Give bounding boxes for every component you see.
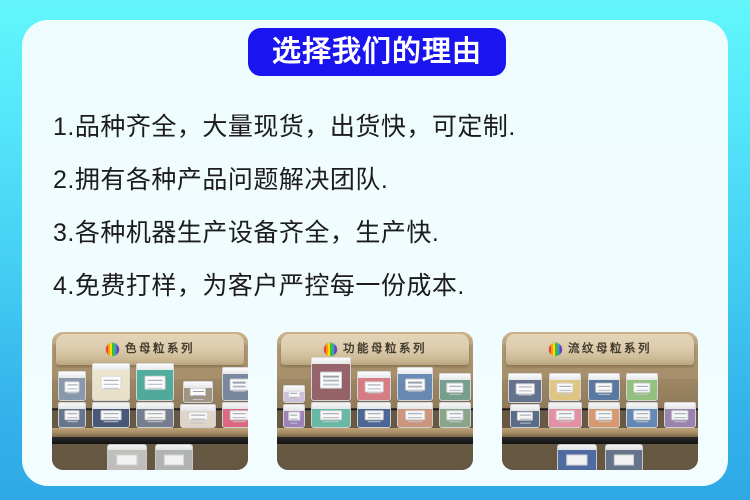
rainbow-stripes-logo-icon xyxy=(105,342,120,357)
jar-lid xyxy=(107,445,147,450)
reason-text: 1.品种齐全，大量现货，出货快，可定制. xyxy=(53,115,516,140)
jar-stack xyxy=(355,370,393,428)
pellet-jar xyxy=(664,402,696,428)
pellet-jar xyxy=(311,402,351,428)
jar-label xyxy=(188,412,208,421)
shelf-sign-label: 功能母粒系列 xyxy=(343,344,427,356)
jar-label xyxy=(164,454,184,465)
jar-lid xyxy=(397,403,433,409)
jar-label xyxy=(516,383,535,394)
jar-label xyxy=(365,411,384,421)
jar-label xyxy=(566,454,587,465)
jar-lid xyxy=(357,403,391,409)
jar-stack xyxy=(309,356,353,428)
jar-lid xyxy=(136,403,174,409)
jar-lid xyxy=(180,405,216,411)
jar-lid xyxy=(439,374,471,380)
pellet-jar xyxy=(508,373,542,403)
jar-label xyxy=(320,411,342,421)
jar-lid xyxy=(397,368,433,374)
jar-stack xyxy=(134,362,176,428)
reason-text: 2.拥有各种产品问题解决团队. xyxy=(53,168,388,193)
shelf-sign-label: 流纹母粒系列 xyxy=(568,344,652,356)
jar-lid xyxy=(311,358,351,364)
jar-lid xyxy=(508,374,542,380)
jar-lid xyxy=(283,405,305,411)
promo-banner: 选择我们的理由 1.品种齐全，大量现货，出货快，可定制. 2.拥有各种产品问题解… xyxy=(0,0,750,500)
jar-lid xyxy=(183,382,213,388)
jar-lid xyxy=(548,403,582,409)
jar-row-bottom-3 xyxy=(502,444,698,470)
pellet-jar xyxy=(222,402,248,428)
reason-text: 4.免费打样，为客户严控每一份成本. xyxy=(53,274,465,299)
jar-stack xyxy=(662,401,698,428)
jar-label xyxy=(320,371,342,388)
jar-lid xyxy=(549,374,581,380)
pellet-jar xyxy=(222,367,248,401)
jar-stack xyxy=(56,370,88,428)
pellet-jar xyxy=(183,381,213,403)
jar-stack xyxy=(586,372,622,428)
jar-label xyxy=(101,411,122,421)
jar-lid xyxy=(626,374,658,380)
jar-label xyxy=(633,411,650,421)
pellet-jar xyxy=(283,385,305,403)
pellet-jar xyxy=(397,402,433,428)
jar-row-bottom-2 xyxy=(277,444,473,470)
pellet-jar-partial xyxy=(155,444,193,470)
pellet-jar xyxy=(397,367,433,401)
jar-label xyxy=(230,378,248,391)
jar-stack xyxy=(281,384,307,428)
jar-label xyxy=(116,454,137,465)
pellet-jar xyxy=(58,371,86,401)
pellet-jar xyxy=(58,402,86,428)
pellet-jar xyxy=(548,402,582,428)
pellet-jar xyxy=(549,373,581,401)
jar-lid xyxy=(58,372,86,378)
jar-label xyxy=(595,411,612,421)
jar-lid xyxy=(510,405,540,411)
reason-item-2: 2.拥有各种产品问题解决团队. xyxy=(53,154,693,207)
rainbow-stripes-logo-icon xyxy=(323,342,338,357)
shelf-board xyxy=(277,428,473,437)
pellet-jar xyxy=(136,363,174,401)
product-photo-3: 流纹母粒系列 xyxy=(502,332,698,470)
jar-label xyxy=(230,411,248,421)
reason-item-3: 3.各种机器生产设备齐全，生产快. xyxy=(53,207,693,260)
jar-label xyxy=(64,411,79,421)
product-photo-1: 色母粒系列 xyxy=(52,332,248,470)
pellet-jar-partial xyxy=(107,444,147,470)
jar-label xyxy=(288,412,300,421)
jar-label xyxy=(365,381,384,392)
reason-text: 3.各种机器生产设备齐全，生产快. xyxy=(53,221,439,246)
jar-lid xyxy=(58,403,86,409)
pellet-jar xyxy=(439,373,471,401)
shelf-sign-label: 色母粒系列 xyxy=(125,344,195,356)
reason-item-1: 1.品种齐全，大量现货，出货快，可定制. xyxy=(53,101,693,154)
jar-label xyxy=(446,411,463,421)
jar-lid xyxy=(605,445,643,450)
jar-stack xyxy=(624,372,660,428)
jar-label xyxy=(517,412,533,421)
jar-label xyxy=(145,376,166,390)
reasons-list: 1.品种齐全，大量现货，出货快，可定制. 2.拥有各种产品问题解决团队. 3.各… xyxy=(53,101,693,313)
jar-lid xyxy=(222,403,248,409)
pellet-jar xyxy=(439,402,471,428)
jar-label xyxy=(101,376,122,390)
pellet-jar xyxy=(92,363,130,401)
pellet-jar xyxy=(588,373,620,401)
jar-lid xyxy=(557,445,597,450)
shelf-signboard-1: 色母粒系列 xyxy=(56,334,244,365)
jar-stack xyxy=(506,372,544,428)
jar-stack xyxy=(220,366,248,428)
reason-item-4: 4.免费打样，为客户严控每一份成本. xyxy=(53,260,693,313)
jar-label xyxy=(446,382,463,392)
rainbow-stripes-logo-icon xyxy=(548,342,563,357)
product-photo-strip: 色母粒系列 功能母粒系列 xyxy=(52,332,698,470)
title-banner: 选择我们的理由 xyxy=(248,28,506,76)
jar-lid xyxy=(626,403,658,409)
jar-label xyxy=(405,378,425,391)
jar-label xyxy=(556,411,575,421)
pellet-jar xyxy=(136,402,174,428)
jar-lid xyxy=(664,403,696,409)
jar-label xyxy=(556,382,573,392)
pellet-jar xyxy=(510,404,540,428)
pellet-jar xyxy=(311,357,351,401)
jar-label xyxy=(288,391,300,397)
pellet-jar xyxy=(357,402,391,428)
jar-lid xyxy=(222,368,248,374)
pellet-jar xyxy=(180,404,216,428)
shelf-edge xyxy=(277,437,473,444)
pellet-jar-partial xyxy=(605,444,643,470)
jar-label xyxy=(64,381,79,392)
jar-lid xyxy=(136,364,174,370)
jar-row-upper-2 xyxy=(277,368,473,428)
jar-lid xyxy=(357,372,391,378)
jar-label xyxy=(633,382,650,392)
shelf-edge xyxy=(502,437,698,444)
jar-lid xyxy=(311,403,351,409)
jar-label xyxy=(614,454,634,465)
pellet-jar xyxy=(92,402,130,428)
jar-stack xyxy=(546,372,584,428)
jar-lid xyxy=(155,445,193,450)
jar-label xyxy=(671,411,688,421)
jar-lid xyxy=(92,403,130,409)
jar-stack xyxy=(178,380,218,428)
jar-label xyxy=(145,411,166,421)
shelf-signboard-3: 流纹母粒系列 xyxy=(506,334,694,365)
jar-row-upper-3 xyxy=(502,368,698,428)
pellet-jar-partial xyxy=(557,444,597,470)
pellet-jar xyxy=(357,371,391,401)
jar-label xyxy=(595,382,612,392)
shelf-board xyxy=(502,428,698,437)
shelf-board xyxy=(52,428,248,437)
jar-stack xyxy=(90,362,132,428)
pellet-jar xyxy=(626,373,658,401)
jar-lid xyxy=(92,364,130,370)
jar-row-bottom-1 xyxy=(52,444,248,470)
jar-row-upper-1 xyxy=(52,368,248,428)
jar-label xyxy=(190,388,206,396)
jar-lid xyxy=(588,403,620,409)
jar-lid xyxy=(439,403,471,409)
jar-stack xyxy=(395,366,435,428)
pellet-jar xyxy=(626,402,658,428)
pellet-jar xyxy=(283,404,305,428)
jar-stack xyxy=(437,372,473,428)
pellet-jar xyxy=(588,402,620,428)
content-panel: 选择我们的理由 1.品种齐全，大量现货，出货快，可定制. 2.拥有各种产品问题解… xyxy=(22,20,728,486)
jar-label xyxy=(405,411,425,421)
page-title: 选择我们的理由 xyxy=(272,38,482,67)
jar-lid xyxy=(588,374,620,380)
shelf-edge xyxy=(52,437,248,444)
product-photo-2: 功能母粒系列 xyxy=(277,332,473,470)
